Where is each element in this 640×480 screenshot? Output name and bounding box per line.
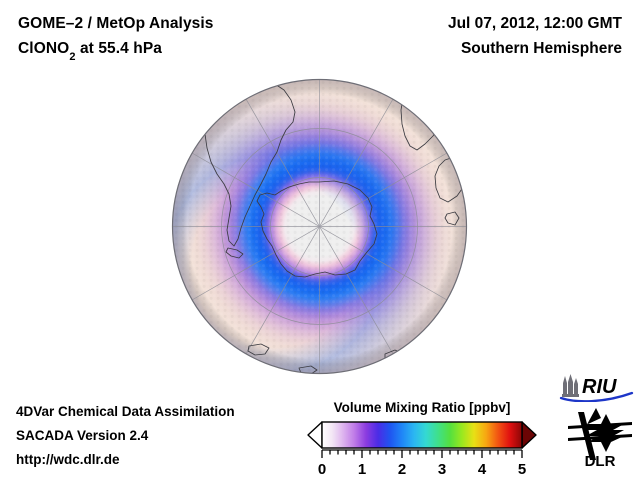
colorbar-tick-label: 3 <box>438 461 446 477</box>
riu-logo: RIU <box>558 372 636 402</box>
region-label: Southern Hemisphere <box>448 36 622 61</box>
method-label: 4DVar Chemical Data Assimilation <box>16 400 235 424</box>
website-link[interactable]: http://wdc.dlr.de <box>16 448 235 472</box>
analysis-title: GOME–2 / MetOp Analysis <box>18 11 214 36</box>
header-right: Jul 07, 2012, 12:00 GMT Southern Hemisph… <box>448 11 622 61</box>
colorbar-axis <box>322 450 522 458</box>
visualization-page: GOME–2 / MetOp Analysis ClONO2 at 55.4 h… <box>0 0 640 480</box>
species-subscript: 2 <box>69 51 75 63</box>
colorbar-title: Volume Mixing Ratio [ppbv] <box>306 400 538 415</box>
species-name: ClONO <box>18 40 69 57</box>
colorbar-tick-label: 5 <box>518 461 526 477</box>
coastline-new-guinea <box>458 135 468 146</box>
orthographic-projection <box>171 78 468 375</box>
version-label: SACADA Version 2.4 <box>16 424 235 448</box>
species-level-title: ClONO2 at 55.4 hPa <box>18 36 214 67</box>
datetime-label: Jul 07, 2012, 12:00 GMT <box>448 11 622 36</box>
colorbar-tick-label: 4 <box>478 461 487 477</box>
dlr-wordmark: DLR <box>585 453 616 468</box>
footer-credits: 4DVar Chemical Data Assimilation SACADA … <box>16 400 235 472</box>
colorbar-tick-labels: 012345 <box>318 461 526 477</box>
colorbar-tick-label: 1 <box>358 461 366 477</box>
dlr-logo: DLR <box>566 406 634 468</box>
colorbar: Volume Mixing Ratio [ppbv] <box>306 400 538 477</box>
riu-wordmark: RIU <box>582 376 617 398</box>
cathedral-icon <box>562 374 579 397</box>
colorbar-scale: 012345 <box>306 419 538 477</box>
pressure-level: at 55.4 hPa <box>76 40 163 57</box>
colorbar-tick-label: 0 <box>318 461 326 477</box>
colorbar-under-arrow <box>308 422 322 448</box>
colorbar-ticks <box>322 450 522 458</box>
colorbar-tick-label: 2 <box>398 461 406 477</box>
globe-map <box>171 78 468 375</box>
header-left: GOME–2 / MetOp Analysis ClONO2 at 55.4 h… <box>18 11 214 67</box>
colorbar-gradient <box>322 422 522 448</box>
colorbar-over-arrow <box>522 422 536 448</box>
